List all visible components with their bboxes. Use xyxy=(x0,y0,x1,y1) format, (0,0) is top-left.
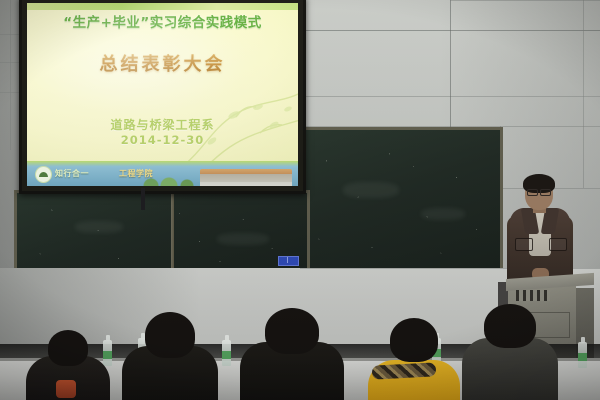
podium-vent-slots xyxy=(516,290,550,301)
audience-member-2 xyxy=(122,314,218,400)
blackboard-surface xyxy=(303,130,500,270)
speaker-jacket-pocket xyxy=(549,238,567,251)
projection-screen-frame: “生产+毕业”实习综合实践模式 总结表彰大会 道路与桥梁工程系 2014-12-… xyxy=(19,0,306,194)
chalk-smudge xyxy=(75,221,123,233)
slide-top-band xyxy=(27,3,298,10)
blackboard-divider xyxy=(171,193,174,271)
wall-seam xyxy=(0,34,20,35)
audience-member-1 xyxy=(26,332,110,400)
slide-footer-building xyxy=(200,169,292,186)
audience-member-3 xyxy=(240,310,344,400)
audience-head xyxy=(145,312,195,358)
wall-seam xyxy=(450,0,451,130)
slide-footer-text-left: 知行合一 xyxy=(55,168,89,179)
slide-title-line1: “生产+毕业”实习综合实践模式 xyxy=(27,11,298,31)
blackboard-surface xyxy=(17,193,307,271)
wall-seam xyxy=(10,0,11,150)
slide-department: 道路与桥梁工程系 xyxy=(27,116,298,133)
wall-seam xyxy=(0,62,20,63)
wall-seam xyxy=(450,0,600,1)
slide-title-line2: 总结表彰大会 xyxy=(27,50,298,76)
school-logo-icon xyxy=(35,166,52,183)
slide-date: 2014-12-30 xyxy=(27,133,298,147)
audience-member-5 xyxy=(462,306,558,400)
blackboard xyxy=(300,127,503,273)
audience-head xyxy=(390,318,438,362)
orange-scarf xyxy=(56,380,76,398)
blue-sign xyxy=(278,256,299,266)
slide-footer-band: 知行合一 工程学院 xyxy=(27,161,298,186)
blackboard xyxy=(14,190,310,274)
chalk-smudge xyxy=(217,233,269,245)
wall-seam xyxy=(0,92,20,93)
glasses-icon xyxy=(527,189,551,194)
water-bottle xyxy=(222,340,231,366)
chalk-smudge xyxy=(421,208,465,220)
audience-head xyxy=(484,304,536,348)
screen-mount-bracket xyxy=(141,188,145,210)
wall-seam xyxy=(583,0,584,188)
water-bottle xyxy=(578,342,587,368)
chalk-smudge xyxy=(343,182,399,198)
speaker-jacket-pocket xyxy=(515,238,533,251)
photo-canvas: “生产+毕业”实习综合实践模式 总结表彰大会 道路与桥梁工程系 2014-12-… xyxy=(0,0,600,400)
audience-member-4 xyxy=(368,318,460,400)
audience-head xyxy=(48,330,88,366)
projection-screen: “生产+毕业”实习综合实践模式 总结表彰大会 道路与桥梁工程系 2014-12-… xyxy=(27,3,298,186)
slide-footer-text-right: 工程学院 xyxy=(119,168,153,179)
audience-head xyxy=(265,308,319,354)
